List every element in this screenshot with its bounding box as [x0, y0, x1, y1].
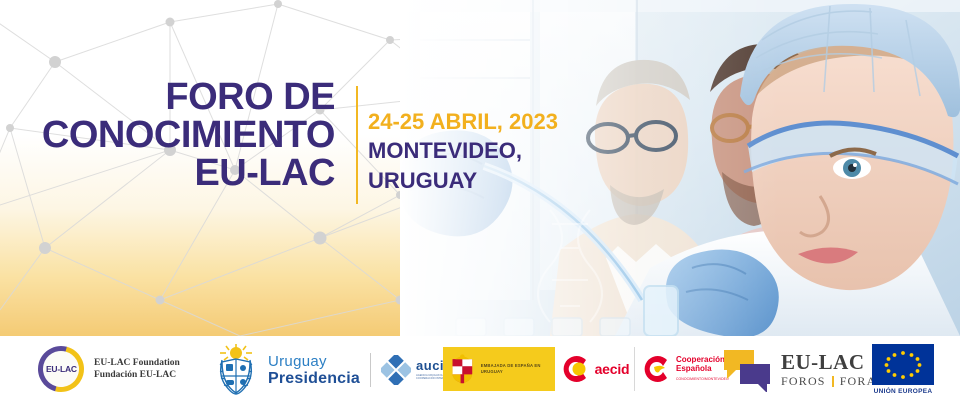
- eu-lac-foros-subtitle: FOROS FORA: [781, 374, 877, 389]
- speech-bubbles-icon: [722, 348, 772, 392]
- uruguay-line2: Presidencia: [268, 371, 360, 387]
- logo-group-spain: EMBAJADA DE ESPAÑA EN URUGUAY aecid Coop…: [443, 347, 737, 391]
- logo-union-europea: UNIÓN EUROPEA: [872, 344, 934, 395]
- uruguay-coat-of-arms-icon: [212, 344, 260, 396]
- eu-lac-foundation-line2: Fundación EU-LAC: [94, 369, 180, 381]
- logo-embajada-espana: EMBAJADA DE ESPAÑA EN URUGUAY: [443, 347, 555, 391]
- event-city: MONTEVIDEO,: [368, 136, 568, 166]
- foros-label-es: FOROS: [781, 374, 826, 389]
- event-title: FORO DE CONOCIMIENTO EU-LAC: [0, 78, 347, 192]
- spain-coat-of-arms-icon: [449, 352, 476, 386]
- eu-lac-ring-label: EU-LAC: [46, 364, 77, 374]
- logo-eu-lac-foros: EU-LAC FOROS FORA: [722, 348, 877, 392]
- vertical-divider: [356, 86, 358, 204]
- event-banner: FORO DE CONOCIMIENTO EU-LAC 24-25 ABRIL,…: [0, 0, 960, 404]
- eu-flag-icon: [872, 344, 934, 385]
- cooperacion-espanola-c-icon: [641, 354, 671, 384]
- eu-lac-foros-text: EU-LAC FOROS FORA: [781, 351, 877, 389]
- uruguay-text: Uruguay Presidencia: [268, 354, 360, 387]
- eu-lac-ring-icon: EU-LAC: [30, 338, 93, 401]
- eu-lac-foros-title: EU-LAC: [781, 351, 877, 373]
- foros-label-pt: FORA: [840, 374, 877, 389]
- event-country: URUGUAY: [368, 166, 568, 196]
- cooperacion-subtitle: CONOCIMIENTO/MONTEVIDEO: [676, 375, 729, 384]
- union-europea-caption: UNIÓN EUROPEA: [874, 388, 933, 395]
- logo-aecid: aecid: [555, 347, 635, 391]
- aecid-c-icon: [560, 354, 590, 384]
- foros-divider-icon: [832, 376, 834, 387]
- eu-lac-foundation-text: EU-LAC Foundation Fundación EU-LAC: [94, 357, 180, 381]
- title-line-1: FORO DE: [0, 78, 335, 116]
- title-line-3: EU-LAC: [0, 154, 335, 192]
- event-details: 24-25 ABRIL, 2023 MONTEVIDEO, URUGUAY: [368, 108, 568, 196]
- title-line-2: CONOCIMIENTO: [0, 116, 335, 154]
- hero-background: FORO DE CONOCIMIENTO EU-LAC 24-25 ABRIL,…: [0, 0, 960, 336]
- uruguay-line1: Uruguay: [268, 354, 360, 369]
- aecid-name: aecid: [595, 361, 630, 377]
- cooperacion-line1: Cooperación: [676, 355, 729, 364]
- eu-lac-foundation-line1: EU-LAC Foundation: [94, 357, 180, 369]
- cooperacion-espanola-text: Cooperación Española CONOCIMIENTO/MONTEV…: [676, 355, 729, 384]
- event-date: 24-25 ABRIL, 2023: [368, 108, 568, 136]
- logo-separator: [370, 353, 371, 387]
- auci-diamond-icon: [381, 355, 411, 385]
- logo-eu-lac-foundation: EU-LAC EU-LAC Foundation Fundación EU-LA…: [38, 346, 180, 392]
- embajada-espana-text: EMBAJADA DE ESPAÑA EN URUGUAY: [481, 363, 555, 374]
- logo-uruguay-presidencia: Uruguay Presidencia auci AGENCIA URUGUAY…: [212, 344, 460, 396]
- cooperacion-line2: Española: [676, 364, 729, 373]
